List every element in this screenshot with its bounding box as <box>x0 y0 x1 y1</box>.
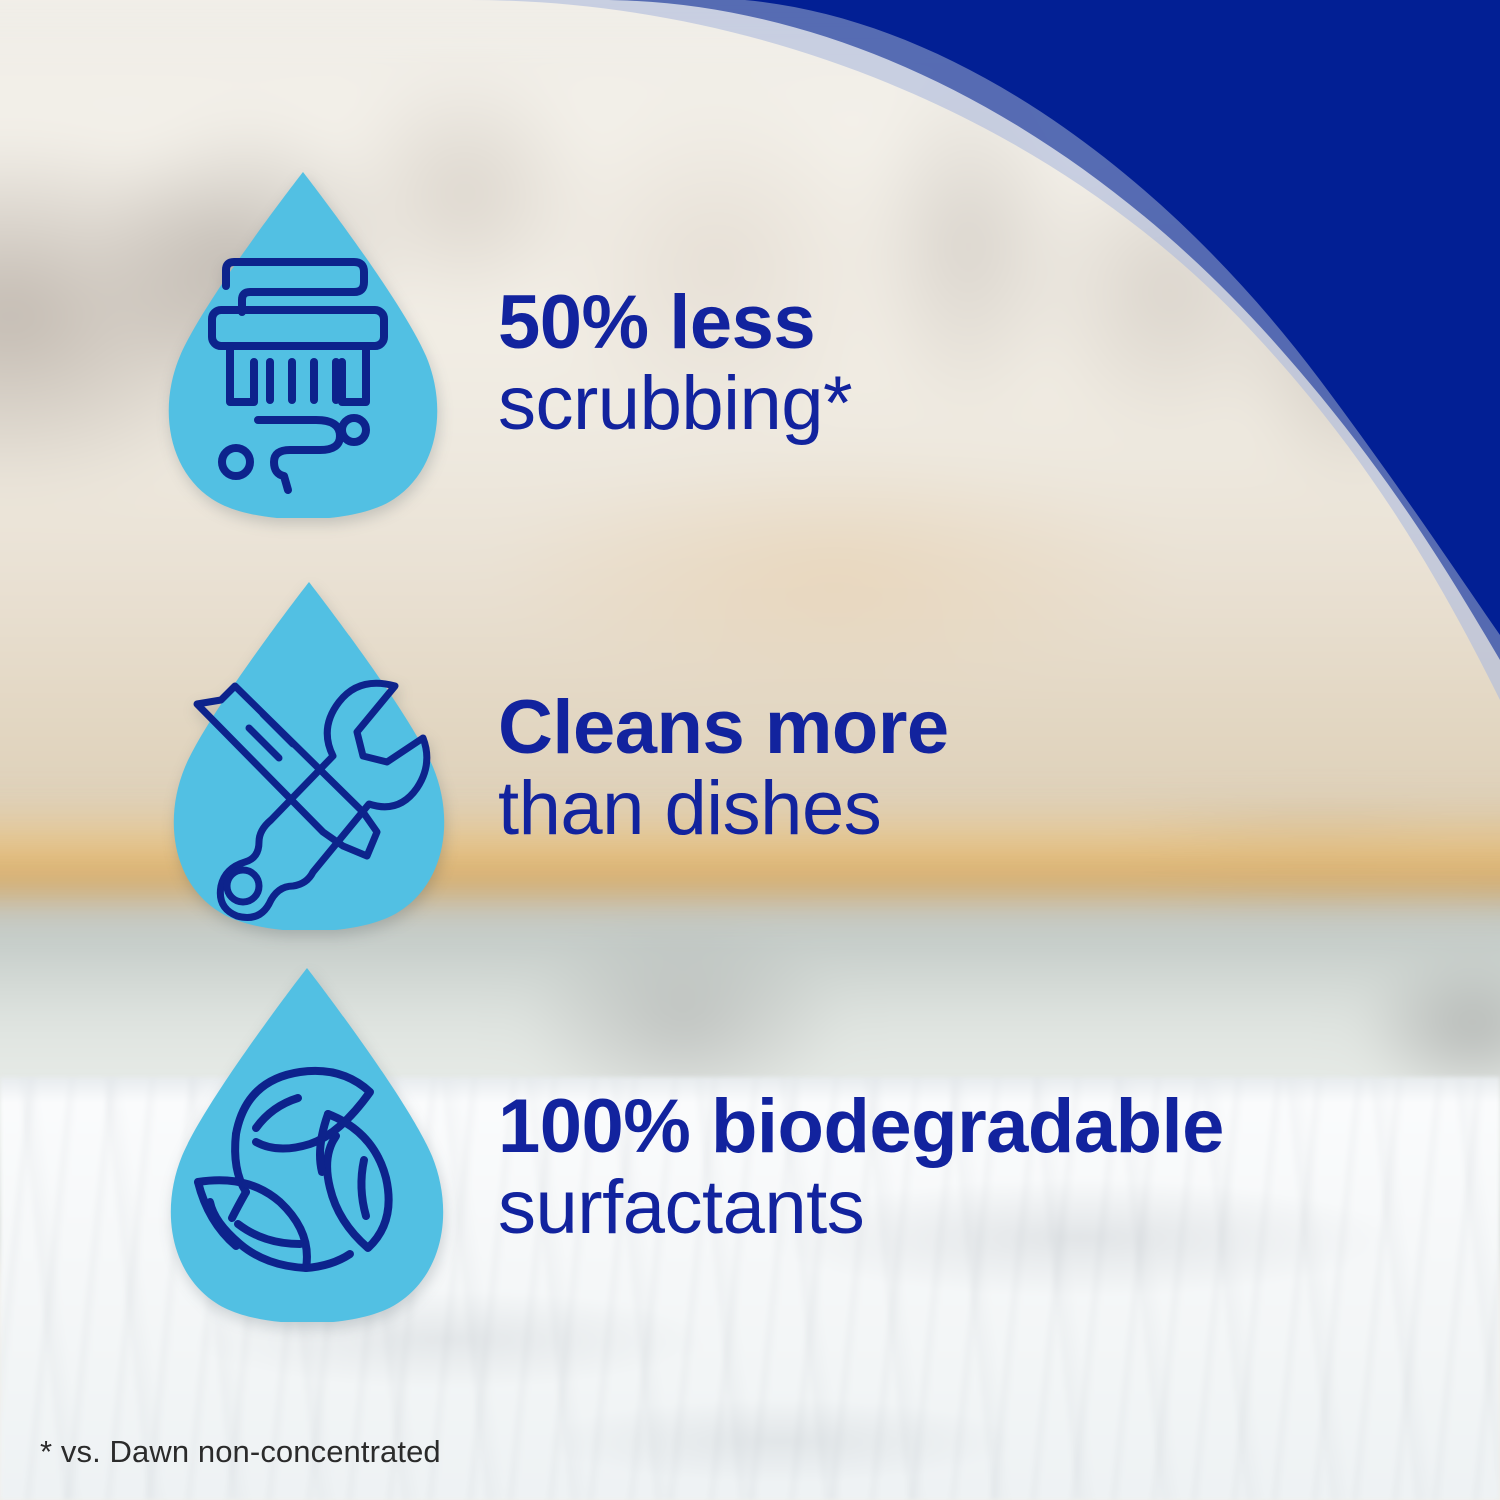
claim-text-3: 100% biodegradable surfactants <box>498 1087 1224 1248</box>
footnote-disclaimer: * vs. Dawn non-concentrated <box>40 1434 441 1470</box>
claim-line-1-primary: 50% less <box>498 283 852 364</box>
claim-text-1: 50% less scrubbing* <box>498 283 852 444</box>
claim-line-3-primary: 100% biodegradable <box>498 1087 1224 1168</box>
claim-text-2: Cleans more than dishes <box>498 688 949 849</box>
claim-line-2-primary: Cleans more <box>498 688 949 769</box>
claim-line-1-secondary: scrubbing* <box>498 364 852 445</box>
drop-shape-1 <box>158 170 448 518</box>
claim-line-2-secondary: than dishes <box>498 769 949 850</box>
claim-line-3-secondary: surfactants <box>498 1168 1224 1249</box>
product-claims-poster: 50% less scrubbing* Cleans more than dis… <box>0 0 1500 1500</box>
drop-shape-2 <box>163 580 455 930</box>
drop-shape-3 <box>160 966 454 1322</box>
